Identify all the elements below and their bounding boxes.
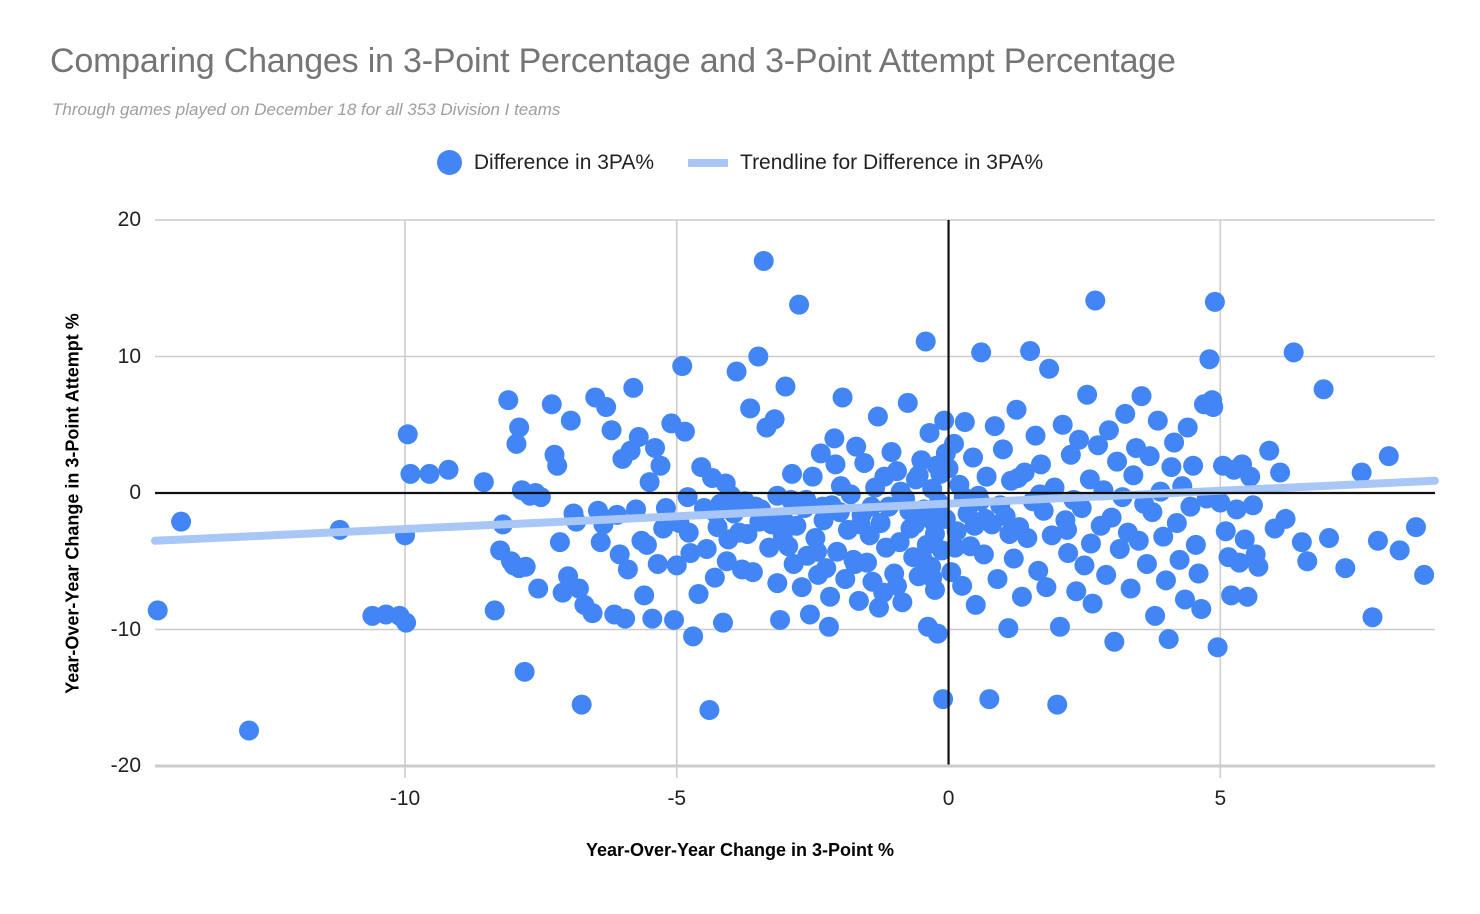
- scatter-point[interactable]: [1145, 606, 1165, 626]
- scatter-point[interactable]: [528, 579, 548, 599]
- scatter-point[interactable]: [993, 439, 1013, 459]
- data-points-group: [148, 251, 1434, 741]
- scatter-point[interactable]: [400, 464, 420, 484]
- scatter-point[interactable]: [1031, 454, 1051, 474]
- scatter-point[interactable]: [623, 378, 643, 398]
- x-axis-title: Year-Over-Year Change in 3-Point %: [0, 840, 1480, 861]
- scatter-point[interactable]: [963, 448, 983, 468]
- scatter-point[interactable]: [1099, 420, 1119, 440]
- scatter-point[interactable]: [1069, 430, 1089, 450]
- scatter-point[interactable]: [1167, 513, 1187, 533]
- scatter-point[interactable]: [485, 600, 505, 620]
- scatter-point[interactable]: [1335, 558, 1355, 578]
- scatter-point[interactable]: [1189, 564, 1209, 584]
- scatter-point[interactable]: [773, 525, 793, 545]
- scatter-point[interactable]: [705, 568, 725, 588]
- scatter-point[interactable]: [602, 420, 622, 440]
- scatter-point[interactable]: [171, 512, 191, 532]
- scatter-point[interactable]: [572, 695, 592, 715]
- scatter-point[interactable]: [1237, 587, 1257, 607]
- scatter-point[interactable]: [1148, 411, 1168, 431]
- scatter-point[interactable]: [1057, 520, 1077, 540]
- scatter-point[interactable]: [561, 411, 581, 431]
- scatter-point[interactable]: [1208, 637, 1228, 657]
- scatter-point[interactable]: [419, 464, 439, 484]
- scatter-point[interactable]: [1390, 540, 1410, 560]
- x-tick-label: 0: [904, 788, 994, 809]
- scatter-point[interactable]: [850, 514, 870, 534]
- scatter-point[interactable]: [1248, 557, 1268, 577]
- x-tick-label: 5: [1175, 788, 1265, 809]
- scatter-point[interactable]: [1178, 417, 1198, 437]
- scatter-point[interactable]: [934, 411, 954, 431]
- scatter-point[interactable]: [474, 472, 494, 492]
- scatter-point[interactable]: [648, 554, 668, 574]
- scatter-point[interactable]: [509, 417, 529, 437]
- scatter-point[interactable]: [1026, 426, 1046, 446]
- scatter-point[interactable]: [1352, 463, 1372, 483]
- x-tick-label: -10: [360, 788, 450, 809]
- scatter-point[interactable]: [800, 604, 820, 624]
- scatter-point[interactable]: [925, 524, 945, 544]
- scatter-point[interactable]: [909, 465, 929, 485]
- scatter-point[interactable]: [679, 523, 699, 543]
- scatter-point[interactable]: [629, 427, 649, 447]
- scatter-point[interactable]: [849, 591, 869, 611]
- scatter-point[interactable]: [952, 576, 972, 596]
- scatter-point[interactable]: [1074, 555, 1094, 575]
- scatter-point[interactable]: [1085, 291, 1105, 311]
- scatter-point[interactable]: [650, 456, 670, 476]
- scatter-point[interactable]: [542, 394, 562, 414]
- scatter-point[interactable]: [1129, 531, 1149, 551]
- scatter-point[interactable]: [148, 600, 168, 620]
- scatter-point[interactable]: [743, 562, 763, 582]
- scatter-point[interactable]: [807, 542, 827, 562]
- scatter-point[interactable]: [824, 428, 844, 448]
- y-axis-title: Year-Over-Year Change in 3-Point Attempt…: [63, 224, 84, 784]
- scatter-point[interactable]: [775, 377, 795, 397]
- scatter-point[interactable]: [874, 467, 894, 487]
- scatter-point[interactable]: [1077, 385, 1097, 405]
- scatter-point[interactable]: [713, 613, 733, 633]
- scatter-point[interactable]: [727, 362, 747, 382]
- scatter-point[interactable]: [1140, 446, 1160, 466]
- scatter-point[interactable]: [1102, 508, 1122, 528]
- scatter-point[interactable]: [974, 544, 994, 564]
- scatter-point[interactable]: [869, 598, 889, 618]
- scatter-point[interactable]: [699, 700, 719, 720]
- scatter-point[interactable]: [1121, 579, 1141, 599]
- scatter-point[interactable]: [697, 539, 717, 559]
- scatter-point[interactable]: [1047, 695, 1067, 715]
- scatter-point[interactable]: [689, 584, 709, 604]
- scatter-point[interactable]: [610, 544, 630, 564]
- scatter-point[interactable]: [1191, 599, 1211, 619]
- scatter-point[interactable]: [916, 331, 936, 351]
- scatter-point[interactable]: [966, 595, 986, 615]
- scatter-point[interactable]: [887, 576, 907, 596]
- scatter-point[interactable]: [1414, 565, 1434, 585]
- scatter-point[interactable]: [936, 443, 956, 463]
- scatter-point[interactable]: [868, 407, 888, 427]
- scatter-point[interactable]: [1036, 577, 1056, 597]
- scatter-point[interactable]: [675, 422, 695, 442]
- scatter-point[interactable]: [922, 568, 942, 588]
- scatter-point[interactable]: [596, 397, 616, 417]
- scatter-point[interactable]: [1058, 543, 1078, 563]
- scatter-point[interactable]: [490, 540, 510, 560]
- scatter-point[interactable]: [1203, 397, 1223, 417]
- scatter-point[interactable]: [912, 549, 932, 569]
- scatter-point[interactable]: [770, 610, 790, 630]
- scatter-point[interactable]: [1314, 379, 1334, 399]
- scatter-point[interactable]: [396, 613, 416, 633]
- scatter-point[interactable]: [591, 532, 611, 552]
- scatter-point[interactable]: [965, 516, 985, 536]
- scatter-point[interactable]: [550, 532, 570, 552]
- scatter-point[interactable]: [515, 662, 535, 682]
- scatter-point[interactable]: [678, 487, 698, 507]
- scatter-point[interactable]: [1039, 359, 1059, 379]
- scatter-point[interactable]: [439, 460, 459, 480]
- scatter-point[interactable]: [1115, 404, 1135, 424]
- scatter-point[interactable]: [1104, 632, 1124, 652]
- scatter-point[interactable]: [1292, 532, 1312, 552]
- scatter-point[interactable]: [765, 409, 785, 429]
- scatter-point[interactable]: [637, 535, 657, 555]
- scatter-point[interactable]: [1083, 594, 1103, 614]
- scatter-point[interactable]: [1379, 446, 1399, 466]
- scatter-point[interactable]: [1319, 528, 1339, 548]
- scatter-point[interactable]: [1205, 292, 1225, 312]
- scatter-point[interactable]: [1096, 565, 1116, 585]
- scatter-point[interactable]: [1066, 581, 1086, 601]
- scatter-point[interactable]: [1017, 528, 1037, 548]
- scatter-point[interactable]: [1170, 550, 1190, 570]
- scatter-point[interactable]: [634, 585, 654, 605]
- scatter-point[interactable]: [1284, 342, 1304, 362]
- scatter-point[interactable]: [999, 524, 1019, 544]
- scatter-point[interactable]: [531, 487, 551, 507]
- scatter-point[interactable]: [987, 569, 1007, 589]
- scatter-point[interactable]: [672, 356, 692, 376]
- scatter-point[interactable]: [977, 467, 997, 487]
- scatter-point[interactable]: [615, 609, 635, 629]
- scatter-point[interactable]: [717, 551, 737, 571]
- scatter-point[interactable]: [955, 412, 975, 432]
- scatter-point[interactable]: [767, 573, 787, 593]
- scatter-point[interactable]: [1137, 554, 1157, 574]
- scatter-point[interactable]: [1297, 551, 1317, 571]
- scatter-point[interactable]: [898, 393, 918, 413]
- scatter-point[interactable]: [1159, 629, 1179, 649]
- scatter-point[interactable]: [1243, 495, 1263, 515]
- scatter-point[interactable]: [1050, 617, 1070, 637]
- scatter-point[interactable]: [583, 603, 603, 623]
- scatter-point[interactable]: [645, 438, 665, 458]
- scatter-point[interactable]: [767, 486, 787, 506]
- scatter-point[interactable]: [1362, 607, 1382, 627]
- scatter-point[interactable]: [740, 398, 760, 418]
- scatter-point[interactable]: [1123, 465, 1143, 485]
- scatter-plot-canvas: [0, 0, 1480, 914]
- scatter-point[interactable]: [820, 587, 840, 607]
- scatter-point[interactable]: [1156, 570, 1176, 590]
- scatter-point[interactable]: [398, 424, 418, 444]
- scatter-point[interactable]: [1276, 509, 1296, 529]
- scatter-point[interactable]: [819, 617, 839, 637]
- scatter-point[interactable]: [833, 387, 853, 407]
- scatter-point[interactable]: [891, 482, 911, 502]
- scatter-point[interactable]: [1006, 400, 1026, 420]
- scatter-point[interactable]: [971, 342, 991, 362]
- scatter-point[interactable]: [803, 467, 823, 487]
- scatter-point[interactable]: [1186, 535, 1206, 555]
- scatter-point[interactable]: [547, 456, 567, 476]
- scatter-point[interactable]: [985, 416, 1005, 436]
- scatter-point[interactable]: [1164, 432, 1184, 452]
- scatter-point[interactable]: [1406, 517, 1426, 537]
- scatter-point[interactable]: [825, 454, 845, 474]
- scatter-point[interactable]: [1161, 457, 1181, 477]
- scatter-point[interactable]: [1142, 502, 1162, 522]
- scatter-point[interactable]: [792, 577, 812, 597]
- scatter-point[interactable]: [789, 295, 809, 315]
- scatter-point[interactable]: [683, 626, 703, 646]
- scatter-point[interactable]: [998, 618, 1018, 638]
- scatter-point[interactable]: [1240, 467, 1260, 487]
- scatter-point[interactable]: [1368, 531, 1388, 551]
- scatter-point[interactable]: [1008, 468, 1028, 488]
- scatter-point[interactable]: [979, 689, 999, 709]
- scatter-point[interactable]: [881, 442, 901, 462]
- scatter-point[interactable]: [748, 347, 768, 367]
- scatter-point[interactable]: [1270, 463, 1290, 483]
- scatter-point[interactable]: [642, 609, 662, 629]
- scatter-point[interactable]: [928, 624, 948, 644]
- scatter-point[interactable]: [754, 251, 774, 271]
- scatter-point[interactable]: [1183, 456, 1203, 476]
- scatter-point[interactable]: [854, 453, 874, 473]
- scatter-point[interactable]: [845, 554, 865, 574]
- scatter-point[interactable]: [1199, 349, 1219, 369]
- scatter-point[interactable]: [933, 689, 953, 709]
- x-tick-label: -5: [632, 788, 722, 809]
- scatter-point[interactable]: [640, 472, 660, 492]
- scatter-point[interactable]: [498, 390, 518, 410]
- scatter-point[interactable]: [1259, 441, 1279, 461]
- scatter-point[interactable]: [516, 557, 536, 577]
- scatter-point[interactable]: [1131, 386, 1151, 406]
- scatter-point[interactable]: [664, 610, 684, 630]
- scatter-point[interactable]: [1020, 341, 1040, 361]
- scatter-point[interactable]: [1216, 521, 1236, 541]
- scatter-point[interactable]: [1004, 549, 1024, 569]
- chart-container: Comparing Changes in 3-Point Percentage …: [0, 0, 1480, 914]
- scatter-point[interactable]: [1107, 452, 1127, 472]
- scatter-point[interactable]: [1053, 415, 1073, 435]
- scatter-point[interactable]: [239, 721, 259, 741]
- scatter-point[interactable]: [782, 464, 802, 484]
- scatter-point[interactable]: [1081, 534, 1101, 554]
- scatter-point[interactable]: [1012, 587, 1032, 607]
